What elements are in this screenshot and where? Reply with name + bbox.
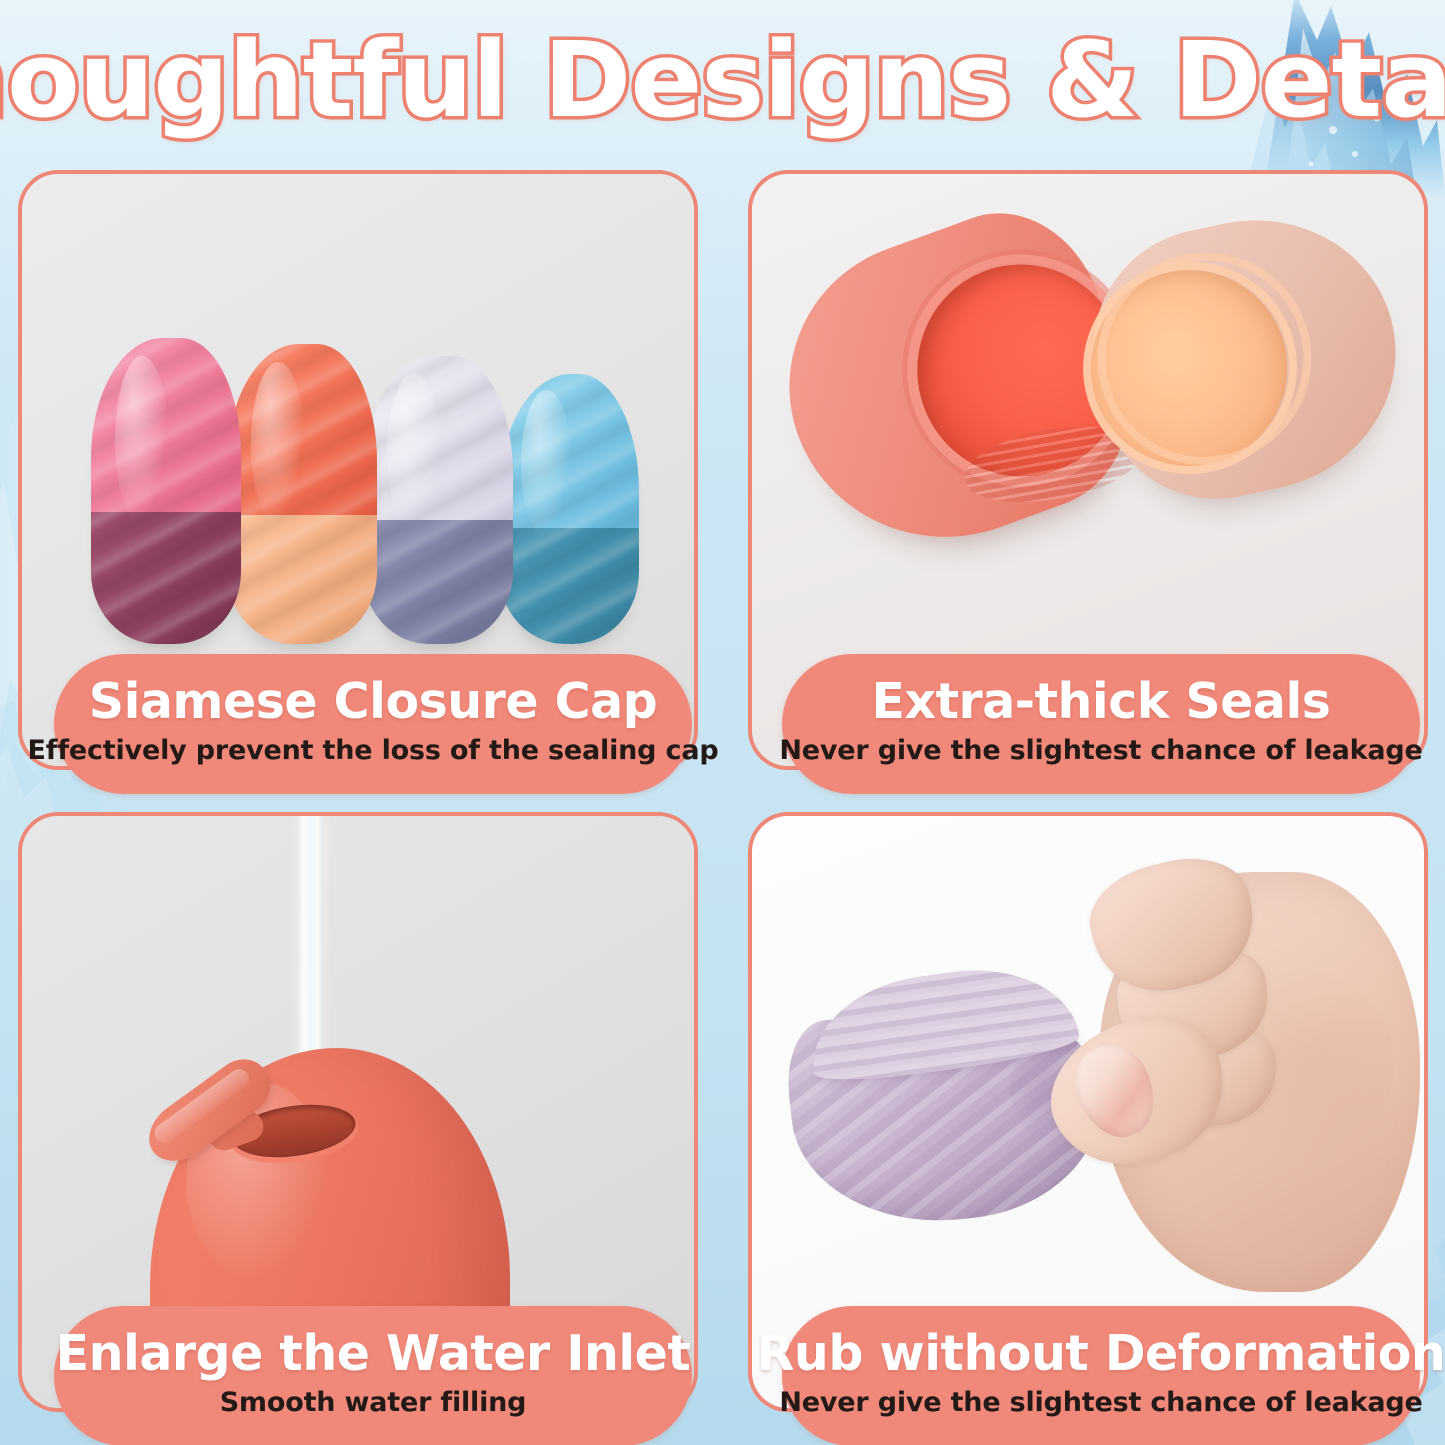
hand-holding-cup xyxy=(1014,846,1424,1316)
header: Thoughtful Designs & Details xyxy=(0,0,1445,160)
product-cup-lavender xyxy=(363,356,513,644)
caption-subtitle: Never give the slightest chance of leaka… xyxy=(779,1388,1422,1418)
caption-siamese-closure-cap: Siamese Closure Cap Effectively prevent … xyxy=(54,654,692,794)
caption-title: Rub without Deformation xyxy=(757,1328,1445,1379)
cups-row xyxy=(22,314,694,644)
caption-extra-thick-seals: Extra-thick Seals Never give the slighte… xyxy=(782,654,1420,794)
caption-rub-without-deformation: Rub without Deformation Never give the s… xyxy=(782,1306,1420,1445)
caption-title: Extra-thick Seals xyxy=(872,676,1331,727)
product-cup-coral xyxy=(227,344,377,644)
caption-subtitle: Smooth water filling xyxy=(220,1388,527,1418)
knuckle-shading xyxy=(1194,966,1394,1166)
product-cup-blue xyxy=(499,374,639,644)
caption-subtitle: Never give the slightest chance of leaka… xyxy=(779,736,1422,766)
caption-enlarge-water-inlet: Enlarge the Water Inlet Smooth water fil… xyxy=(54,1306,692,1445)
caption-subtitle: Effectively prevent the loss of the seal… xyxy=(28,736,719,766)
caption-title: Siamese Closure Cap xyxy=(89,676,657,727)
feature-grid: Siamese Closure Cap Effectively prevent … xyxy=(0,0,1445,1445)
page-title: Thoughtful Designs & Details xyxy=(0,28,1445,132)
caption-title: Enlarge the Water Inlet xyxy=(56,1328,691,1379)
product-cup-pink xyxy=(91,338,241,644)
